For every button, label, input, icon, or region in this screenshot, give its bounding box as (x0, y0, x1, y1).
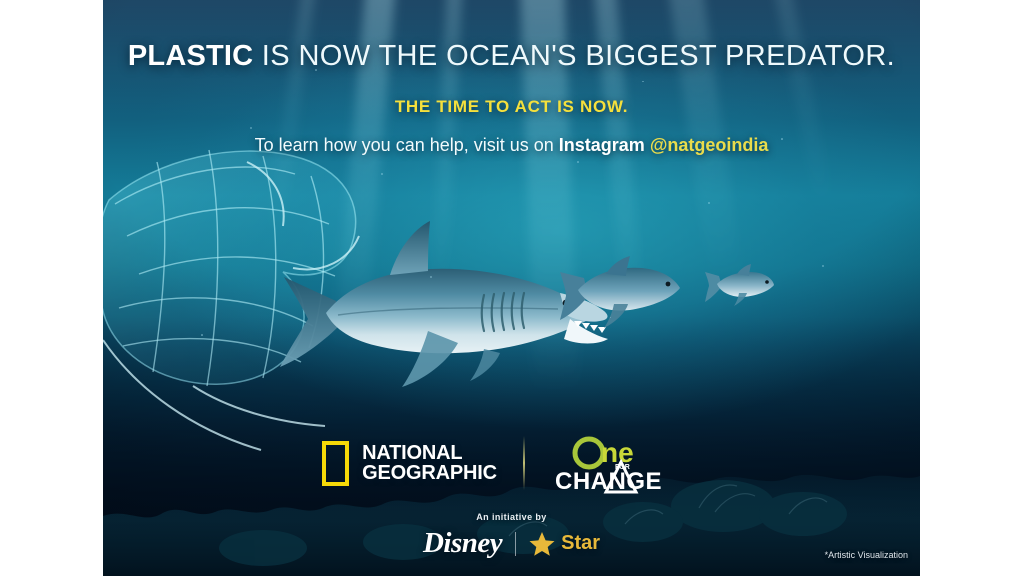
poster-copy: PLASTIC IS NOW THE OCEAN'S BIGGEST PREDA… (103, 0, 920, 156)
logo-lockup: NATIONAL GEOGRAPHIC ne FOR CHANGE (103, 432, 920, 494)
page-title: PLASTIC IS NOW THE OCEAN'S BIGGEST PREDA… (103, 0, 920, 73)
brand-logos: Disney Star (103, 527, 920, 560)
cta-lead: To learn how you can help, visit us on (255, 135, 559, 155)
natgeo-yellow-rectangle-icon (322, 441, 349, 486)
plastic-bag-predator-icon (103, 140, 437, 470)
star-wordmark: Star (561, 532, 600, 555)
call-to-action: To learn how you can help, visit us on I… (103, 135, 920, 156)
headline-emphasis: PLASTIC (128, 40, 253, 72)
cta-instagram-handle[interactable]: @natgeoindia (650, 135, 769, 155)
initiative-label: An initiative by (103, 512, 920, 522)
cta-platform: Instagram (559, 135, 645, 155)
artistic-visualization-disclaimer: *Artistic Visualization (825, 550, 908, 560)
great-white-shark-icon (278, 215, 628, 405)
star-logo[interactable]: Star (529, 531, 600, 557)
star-icon (529, 531, 555, 557)
natgeo-line-2: GEOGRAPHIC (362, 463, 497, 483)
poster-image: PLASTIC IS NOW THE OCEAN'S BIGGEST PREDA… (103, 0, 920, 576)
subheadline: THE TIME TO ACT IS NOW. (103, 97, 920, 117)
headline-rest: IS NOW THE OCEAN'S BIGGEST PREDATOR. (253, 40, 895, 72)
poster-canvas: PLASTIC IS NOW THE OCEAN'S BIGGEST PREDA… (0, 0, 1024, 576)
initiative-strip: An initiative by Disney Star (103, 512, 920, 560)
disney-logo[interactable]: Disney (423, 527, 502, 560)
natgeo-wordmark: NATIONAL GEOGRAPHIC (362, 443, 497, 483)
national-geographic-logo[interactable]: NATIONAL GEOGRAPHIC (322, 441, 497, 486)
natgeo-line-1: NATIONAL (362, 443, 497, 463)
logo-divider (523, 436, 525, 490)
small-fish-icon (703, 262, 775, 308)
one-for-change-logo[interactable]: ne FOR CHANGE (551, 432, 701, 494)
medium-fish-icon (558, 252, 683, 332)
brand-divider (515, 532, 516, 556)
